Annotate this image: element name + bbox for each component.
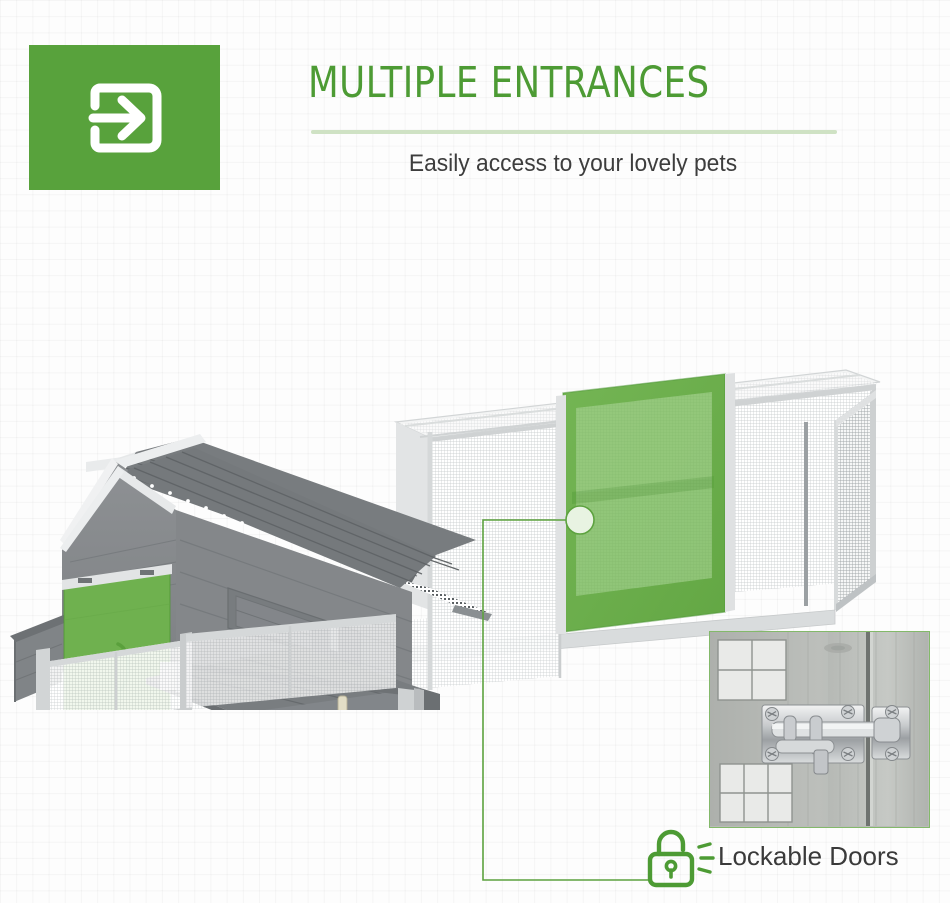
lock-closeup-photo: [709, 631, 930, 828]
mesh-panel-bottom: [720, 764, 792, 822]
title-divider: [311, 130, 837, 134]
enter-door-arrow-icon: [29, 45, 220, 190]
mesh-panel-top: [718, 640, 786, 700]
lockable-doors-callout: Lockable Doors: [646, 826, 946, 888]
marketing-image-page: MULTIPLE ENTRANCES Easily access to your…: [0, 0, 950, 903]
open-padlock-icon: [646, 826, 724, 888]
page-subtitle: Easily access to your lovely pets: [321, 148, 825, 180]
lockable-doors-label: Lockable Doors: [718, 838, 899, 874]
page-title: MULTIPLE ENTRANCES: [308, 57, 796, 109]
run-green-door: [556, 373, 735, 634]
header-band: MULTIPLE ENTRANCES Easily access to your…: [0, 0, 950, 215]
